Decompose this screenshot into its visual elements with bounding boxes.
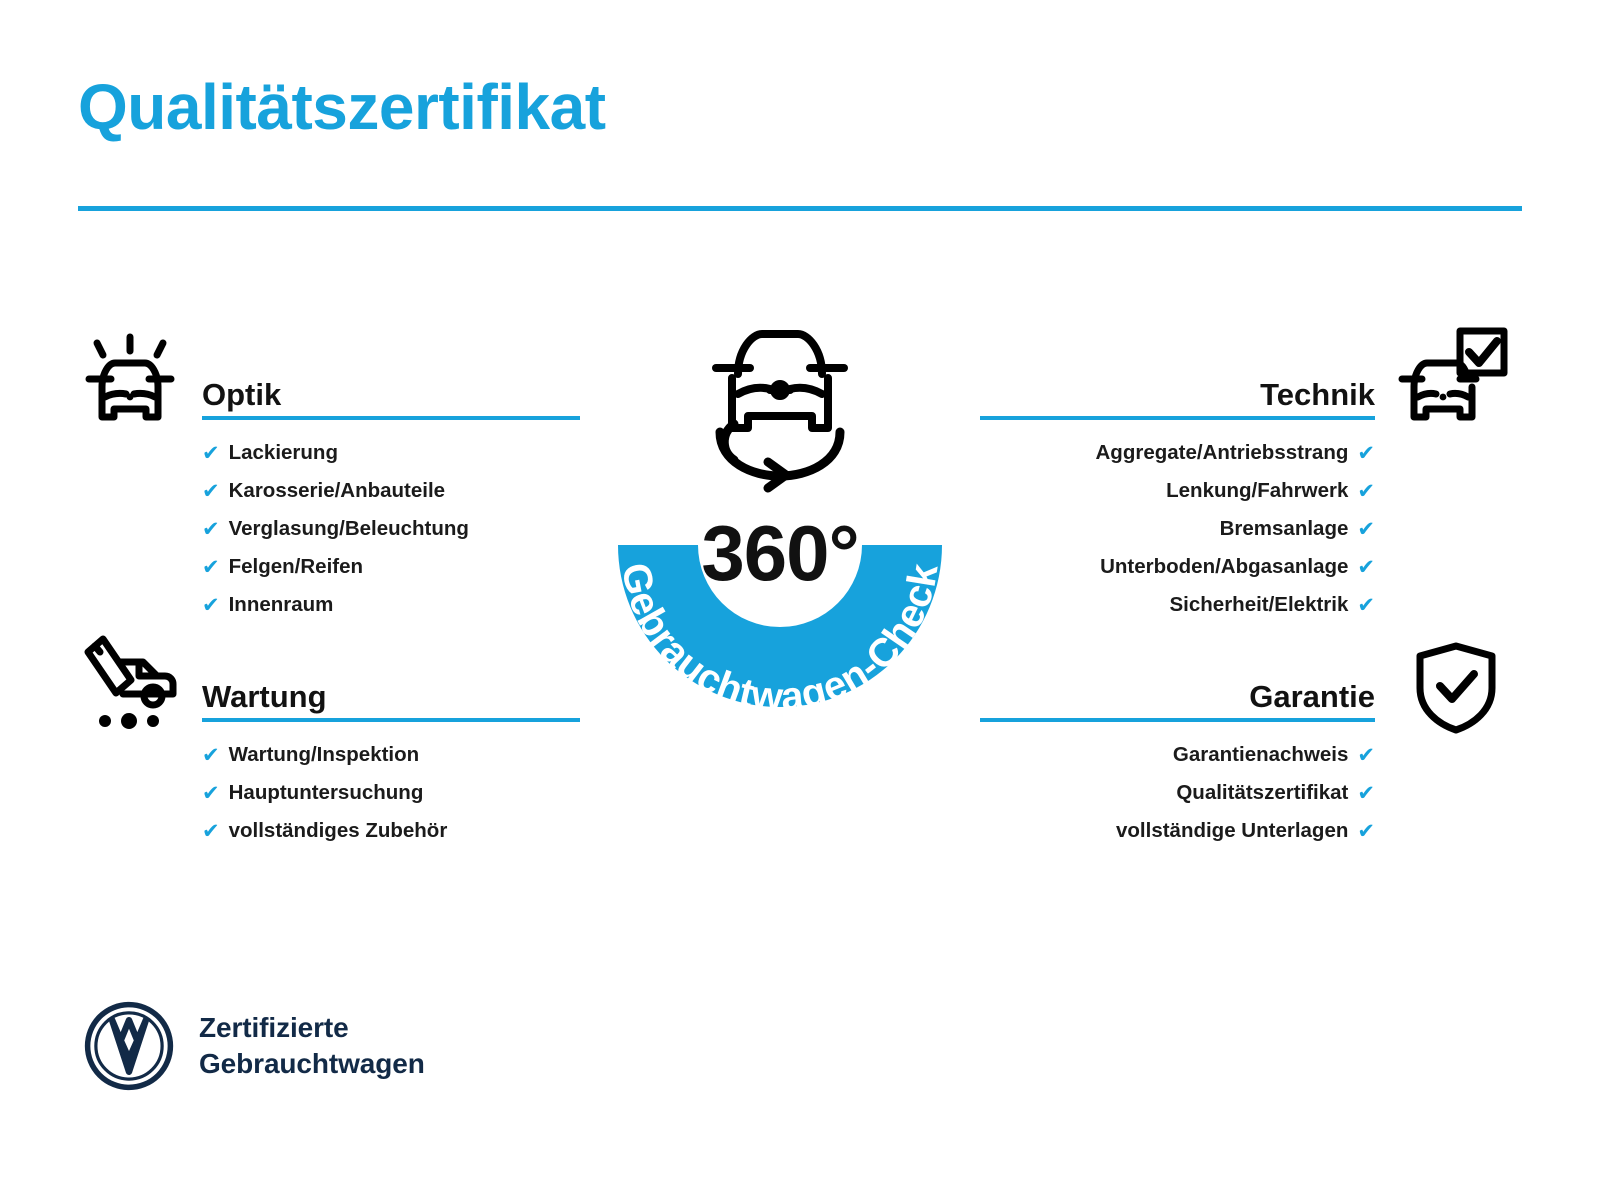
list-item: Garantienachweis ✔ [980,745,1375,766]
list-item: Qualitätszertifikat ✔ [980,783,1375,804]
list-item-label: Aggregate/Antriebsstrang [1096,443,1349,464]
check-icon: ✔ [1357,821,1375,842]
section-optik: Optik ✔ Lackierung ✔ Karosserie/Anbautei… [202,358,580,616]
check-icon: ✔ [202,481,220,502]
vw-logo [83,1000,175,1092]
list-item-label: Garantienachweis [1173,745,1348,766]
car-shine-icon [75,325,185,430]
car-rotate-icon [716,334,844,488]
check-icon: ✔ [1357,481,1375,502]
car-checkbox-icon [1398,325,1510,430]
section-wartung-title: Wartung [202,681,327,712]
list-item-label: Lackierung [229,443,338,464]
footer-line-1: Zertifizierte [199,1010,425,1046]
list-item: ✔ Lackierung [202,443,580,464]
section-technik: Technik Aggregate/Antriebsstrang ✔ Lenku… [980,358,1375,616]
list-item: vollständige Unterlagen ✔ [980,821,1375,842]
list-item-label: Bremsanlage [1220,519,1349,540]
footer-brand-lockup: Zertifizierte Gebrauchtwagen [83,1000,425,1092]
certificate-page: Qualitätszertifikat Optik ✔ Lackierung ✔… [0,0,1600,1200]
list-item: ✔ Innenraum [202,595,580,616]
list-item: Bremsanlage ✔ [980,519,1375,540]
list-item: Unterboden/Abgasanlage ✔ [980,557,1375,578]
section-garantie-title: Garantie [1249,681,1375,712]
footer-brand-text: Zertifizierte Gebrauchtwagen [199,1010,425,1082]
check-icon: ✔ [202,783,220,804]
section-wartung-header: Wartung [202,660,580,722]
check-icon: ✔ [1357,557,1375,578]
check-icon: ✔ [202,595,220,616]
check-icon: ✔ [1357,745,1375,766]
list-item: Sicherheit/Elektrik ✔ [980,595,1375,616]
list-item: ✔ Wartung/Inspektion [202,745,580,766]
section-wartung: Wartung ✔ Wartung/Inspektion ✔ Hauptunte… [202,660,580,842]
badge-360-gebrauchtwagen-check: Gebrauchtwagen-Check [560,302,1000,794]
check-icon: ✔ [202,745,220,766]
list-item: ✔ Verglasung/Beleuchtung [202,519,580,540]
page-title: Qualitätszertifikat [78,72,606,142]
check-icon: ✔ [1357,519,1375,540]
list-item-label: Innenraum [229,595,334,616]
list-item-label: vollständige Unterlagen [1116,821,1348,842]
list-item-label: Sicherheit/Elektrik [1170,595,1349,616]
section-garantie-list: Garantienachweis ✔ Qualitätszertifikat ✔… [980,745,1375,842]
check-icon: ✔ [202,557,220,578]
section-garantie-header: Garantie [980,660,1375,722]
section-technik-underline [980,416,1375,420]
shield-check-icon [1412,640,1500,735]
list-item-label: Wartung/Inspektion [229,745,420,766]
section-wartung-underline [202,718,580,722]
check-icon: ✔ [202,519,220,540]
list-item-label: Qualitätszertifikat [1176,783,1348,804]
section-optik-underline [202,416,580,420]
section-technik-list: Aggregate/Antriebsstrang ✔ Lenkung/Fahrw… [980,443,1375,616]
section-technik-title: Technik [1260,379,1375,410]
list-item-label: Hauptuntersuchung [229,783,424,804]
list-item-label: Felgen/Reifen [229,557,363,578]
list-item: ✔ Karosserie/Anbauteile [202,481,580,502]
check-icon: ✔ [1357,783,1375,804]
section-optik-list: ✔ Lackierung ✔ Karosserie/Anbauteile ✔ V… [202,443,580,616]
header-divider [78,206,1522,211]
section-garantie: Garantie Garantienachweis ✔ Qualitätszer… [980,660,1375,842]
check-icon: ✔ [202,821,220,842]
list-item-label: Verglasung/Beleuchtung [229,519,469,540]
check-icon: ✔ [1357,443,1375,464]
section-garantie-underline [980,718,1375,722]
list-item: ✔ Felgen/Reifen [202,557,580,578]
car-service-wrench-icon [75,628,185,733]
section-technik-header: Technik [980,358,1375,420]
check-icon: ✔ [1357,595,1375,616]
check-icon: ✔ [202,443,220,464]
list-item: Aggregate/Antriebsstrang ✔ [980,443,1375,464]
list-item-label: Lenkung/Fahrwerk [1166,481,1348,502]
footer-line-2: Gebrauchtwagen [199,1046,425,1082]
list-item-label: vollständiges Zubehör [229,821,448,842]
list-item: Lenkung/Fahrwerk ✔ [980,481,1375,502]
section-wartung-list: ✔ Wartung/Inspektion ✔ Hauptuntersuchung… [202,745,580,842]
section-optik-header: Optik [202,358,580,420]
list-item: ✔ vollständiges Zubehör [202,821,580,842]
list-item: ✔ Hauptuntersuchung [202,783,580,804]
list-item-label: Unterboden/Abgasanlage [1100,557,1348,578]
badge-value: 360° [560,514,1000,592]
list-item-label: Karosserie/Anbauteile [229,481,445,502]
section-optik-title: Optik [202,379,281,410]
